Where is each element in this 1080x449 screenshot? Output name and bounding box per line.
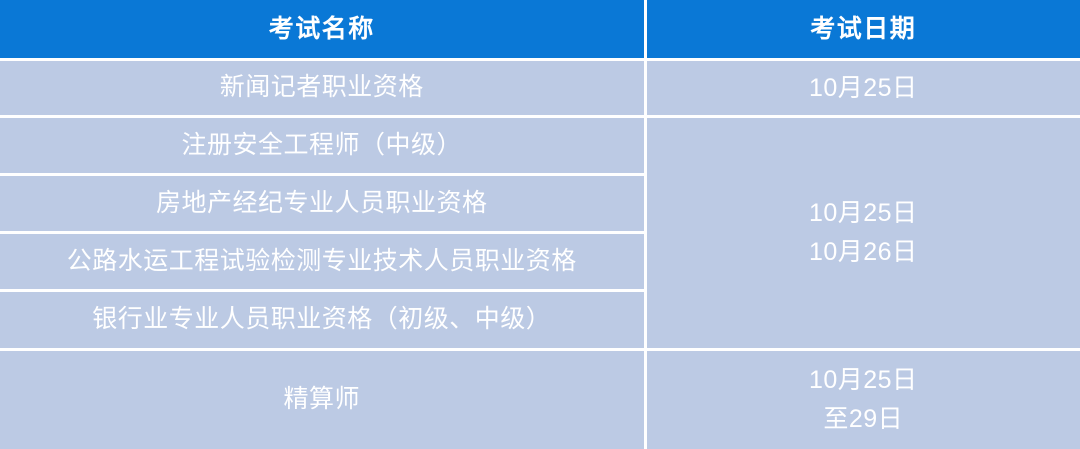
table-header: 考试名称 考试日期 xyxy=(0,0,1080,60)
cell-exam-name: 新闻记者职业资格 xyxy=(0,60,645,117)
exam-date-line: 10月26日 xyxy=(647,233,1080,272)
exam-name-text: 银行业专业人员职业资格（初级、中级） xyxy=(92,303,551,337)
header-row: 考试名称 考试日期 xyxy=(0,0,1080,60)
cell-exam-date-merged: 10月25日 10月26日 xyxy=(645,117,1080,349)
column-header-exam-name: 考试名称 xyxy=(0,0,645,60)
exam-name-text: 新闻记者职业资格 xyxy=(220,71,424,105)
exam-name-text: 精算师 xyxy=(283,383,360,417)
column-header-exam-date: 考试日期 xyxy=(645,0,1080,60)
exam-date-line: 至29日 xyxy=(647,400,1080,439)
table-row: 精算师 10月25日 至29日 xyxy=(0,349,1080,449)
cell-exam-name: 房地产经纪专业人员职业资格 xyxy=(0,174,645,232)
cell-exam-name: 注册安全工程师（中级） xyxy=(0,117,645,174)
table-row: 注册安全工程师（中级） 10月25日 10月26日 xyxy=(0,117,1080,174)
exam-name-text: 公路水运工程试验检测专业技术人员职业资格 xyxy=(67,245,577,279)
exam-name-text: 注册安全工程师（中级） xyxy=(181,129,462,163)
exam-date-line: 10月25日 xyxy=(647,194,1080,233)
exam-name-text: 房地产经纪专业人员职业资格 xyxy=(156,187,488,221)
table-row: 新闻记者职业资格 10月25日 xyxy=(0,60,1080,117)
cell-exam-name: 银行业专业人员职业资格（初级、中级） xyxy=(0,291,645,349)
cell-exam-name: 公路水运工程试验检测专业技术人员职业资格 xyxy=(0,233,645,291)
cell-exam-date: 10月25日 xyxy=(645,60,1080,117)
exam-date-line: 10月25日 xyxy=(647,69,1080,108)
cell-exam-date: 10月25日 至29日 xyxy=(645,349,1080,449)
cell-exam-name: 精算师 xyxy=(0,349,645,449)
exam-schedule-table: 考试名称 考试日期 新闻记者职业资格 10月25日 注册安全工程师（中级） 10… xyxy=(0,0,1080,449)
table-body: 新闻记者职业资格 10月25日 注册安全工程师（中级） 10月25日 10月26… xyxy=(0,60,1080,449)
exam-date-line: 10月25日 xyxy=(647,361,1080,400)
